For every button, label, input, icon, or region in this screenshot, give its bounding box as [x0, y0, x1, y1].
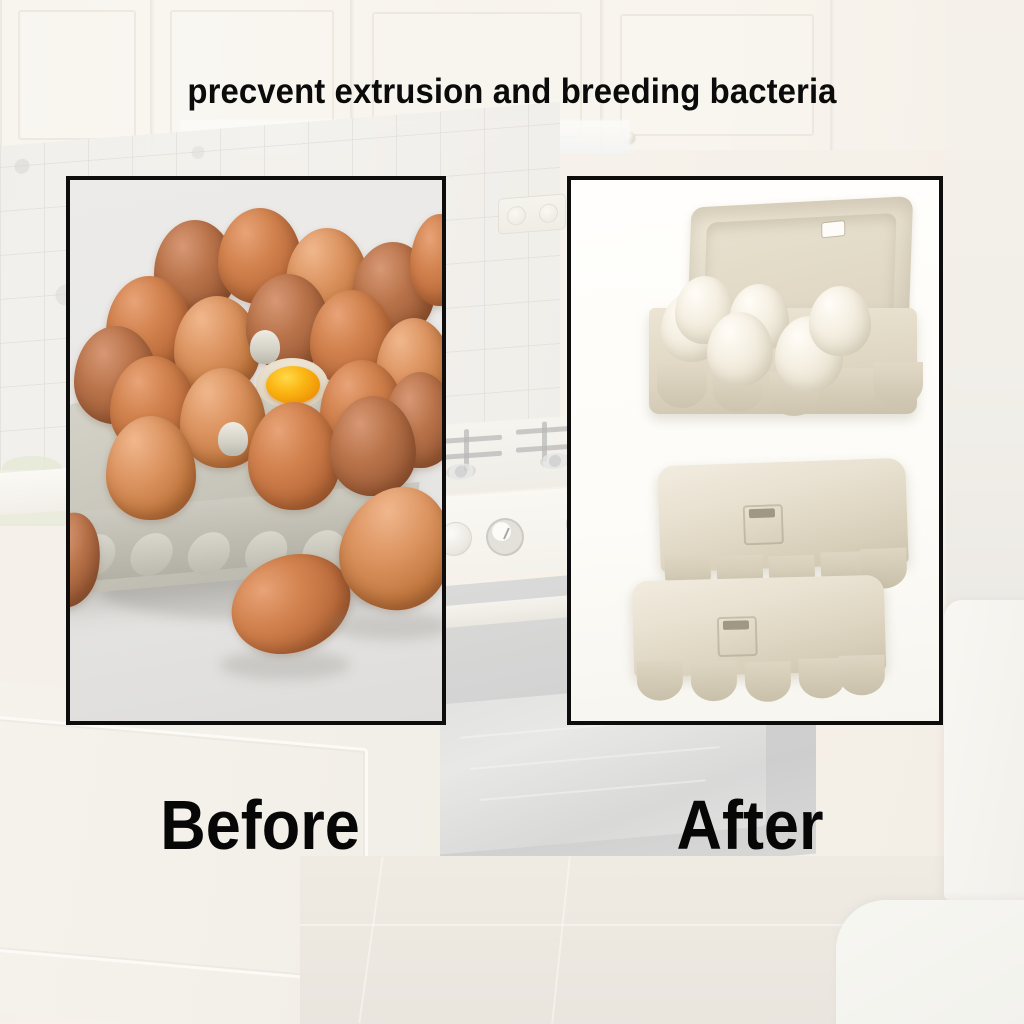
before-label: Before: [152, 790, 368, 860]
before-photo-panel: [66, 176, 446, 725]
headline-text: precvent extrusion and breeding bacteria: [31, 72, 994, 112]
carton-tab-slot: [822, 221, 844, 237]
egg-yolk: [266, 366, 320, 404]
white-egg: [809, 286, 871, 356]
after-photo-panel: [567, 176, 943, 725]
comparison-graphic: precvent extrusion and breeding bacteria: [0, 0, 1024, 1024]
white-egg: [707, 312, 773, 386]
after-label: After: [651, 790, 849, 860]
carton-latch-tab: [717, 616, 758, 657]
carton-latch-tab: [743, 504, 784, 545]
